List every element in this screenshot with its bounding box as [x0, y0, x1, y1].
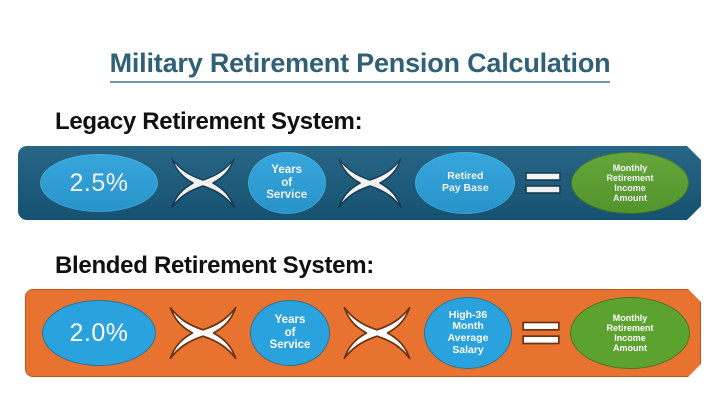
legacy-formula-banner: 2.5% Years of Service Retired Pay Base — [18, 146, 701, 220]
legacy-years-line-2: of — [281, 177, 292, 189]
legacy-years-of-service-node: Years of Service — [248, 152, 326, 214]
legacy-years-line-1: Years — [271, 164, 302, 176]
blended-result-line-1: Monthly — [613, 313, 648, 323]
blended-years-line-1: Years — [275, 314, 306, 326]
blended-salary-line-2: Month — [452, 320, 484, 332]
multiply-icon — [166, 155, 240, 211]
legacy-result-node: Monthly Retirement Income Amount — [571, 152, 689, 214]
blended-multiplier-value: 2.0% — [66, 319, 133, 347]
legacy-years-of-service-label: Years of Service — [262, 164, 311, 203]
blended-section-heading: Blended Retirement System: — [55, 252, 374, 280]
legacy-result-label: Monthly Retirement Income Amount — [602, 163, 657, 203]
blended-years-of-service-node: Years of Service — [250, 300, 330, 366]
legacy-multiplier-node: 2.5% — [40, 154, 158, 212]
multiply-operator-1 — [166, 155, 240, 211]
legacy-retired-pay-base-label: Retired Pay Base — [438, 171, 493, 195]
equals-icon — [520, 315, 562, 351]
blended-result-label: Monthly Retirement Income Amount — [602, 313, 657, 353]
multiply-icon — [338, 303, 416, 363]
legacy-years-line-3: Service — [266, 189, 307, 201]
legacy-retired-pay-base-node: Retired Pay Base — [415, 152, 515, 214]
legacy-section-heading: Legacy Retirement System: — [55, 108, 362, 136]
blended-years-line-2: of — [285, 327, 296, 339]
blended-high36-salary-label: High-36 Month Average Salary — [443, 310, 492, 357]
legacy-result-line-2: Retirement — [606, 173, 653, 183]
legacy-result-line-4: Amount — [613, 193, 647, 203]
equals-operator — [520, 315, 562, 351]
legacy-paybase-line-1: Retired — [447, 170, 483, 182]
multiply-operator-2 — [333, 155, 407, 211]
legacy-result-line-1: Monthly — [613, 163, 648, 173]
equals-operator — [523, 166, 563, 200]
blended-multiplier-node: 2.0% — [42, 300, 156, 366]
multiply-operator-2 — [338, 303, 416, 363]
blended-result-line-2: Retirement — [606, 323, 653, 333]
multiply-operator-1 — [164, 303, 242, 363]
blended-years-of-service-label: Years of Service — [266, 314, 315, 353]
page-title: Military Retirement Pension Calculation — [0, 48, 720, 83]
blended-salary-line-3: Average — [447, 332, 488, 344]
multiply-icon — [333, 155, 407, 211]
legacy-result-line-3: Income — [614, 183, 646, 193]
blended-salary-line-1: High-36 — [449, 309, 488, 321]
legacy-paybase-line-2: Pay Base — [442, 182, 489, 194]
multiply-icon — [164, 303, 242, 363]
blended-result-node: Monthly Retirement Income Amount — [570, 297, 690, 369]
blended-salary-line-4: Salary — [452, 344, 484, 356]
equals-icon — [523, 166, 563, 200]
blended-formula-banner: 2.0% Years of Service High-36 Month Ave — [25, 289, 701, 377]
page-title-text: Military Retirement Pension Calculation — [110, 48, 611, 83]
blended-high36-salary-node: High-36 Month Average Salary — [424, 297, 512, 369]
blended-years-line-3: Service — [270, 339, 311, 351]
legacy-multiplier-value: 2.5% — [66, 169, 133, 197]
blended-result-line-4: Amount — [613, 343, 647, 353]
blended-result-line-3: Income — [614, 333, 646, 343]
